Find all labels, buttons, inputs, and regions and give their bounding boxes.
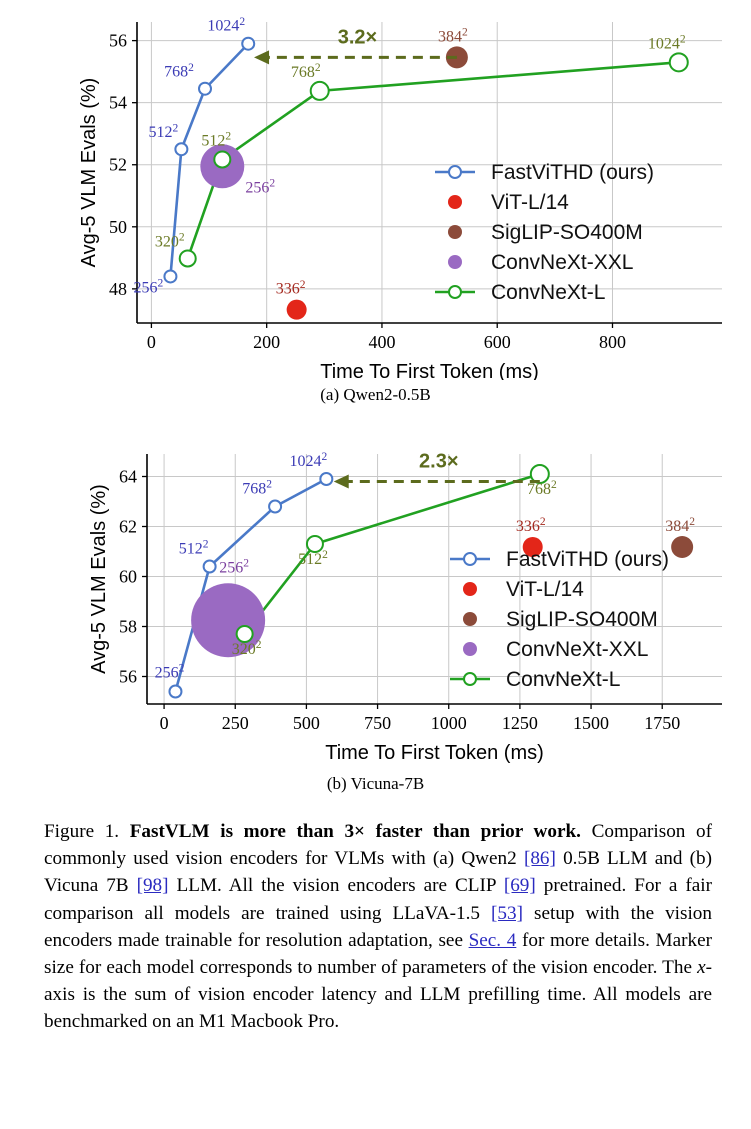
datapoint-fastvithd-ours- (242, 38, 254, 50)
point-label: 3842 (665, 516, 695, 535)
citation-86[interactable]: [86] (524, 848, 556, 869)
point-label: 3362 (276, 279, 306, 298)
point-label: 10242 (289, 451, 327, 470)
citation-98[interactable]: [98] (137, 875, 169, 896)
y-tick-label: 60 (119, 567, 137, 587)
legend-marker-dot (448, 255, 462, 269)
point-label: 10242 (207, 16, 245, 35)
x-tick-label: 200 (253, 332, 280, 352)
point-label: 5122 (298, 549, 328, 568)
legend-marker-dot (463, 612, 477, 626)
datapoint-convnext-l (311, 82, 329, 100)
section-link-4[interactable]: Sec. 4 (469, 930, 517, 951)
x-tick-label: 750 (364, 713, 391, 733)
point-label: 5122 (179, 539, 209, 558)
x-tick-label: 600 (484, 332, 511, 352)
legend-marker-dot (463, 582, 477, 596)
legend-label: ConvNeXt-XXL (506, 638, 648, 661)
chart-legend: FastViTHD (ours)ViT-L/14SigLIP-SO400MCon… (435, 161, 654, 304)
series-line-fastvithd-ours- (175, 479, 326, 692)
datapoint-fastvithd-ours- (199, 83, 211, 95)
legend-label: SigLIP-SO400M (506, 608, 658, 631)
x-tick-label: 1750 (644, 713, 680, 733)
point-label: 2562 (219, 557, 249, 576)
point-label: 7682 (242, 479, 272, 498)
x-tick-label: 0 (147, 332, 156, 352)
datapoint-fastvithd-ours- (175, 143, 187, 155)
legend-label: ViT-L/14 (491, 191, 569, 214)
legend-label: SigLIP-SO400M (491, 221, 643, 244)
x-axis-title: Time To First Token (ms) (325, 742, 544, 764)
datapoint-siglip-so400m (671, 536, 693, 558)
x-tick-label: 1250 (502, 713, 538, 733)
x-axis-title: Time To First Token (ms) (320, 361, 539, 380)
citation-69[interactable]: [69] (504, 875, 536, 896)
datapoint-fastvithd-ours- (269, 501, 281, 513)
speedup-arrow-head (254, 50, 269, 64)
math-variable-x: x (697, 957, 706, 978)
point-label: 7682 (291, 62, 321, 81)
legend-marker-circle (449, 286, 461, 298)
datapoint-fastvithd-ours- (169, 686, 181, 698)
point-label: 2562 (245, 178, 275, 197)
y-tick-label: 54 (109, 93, 127, 113)
figure-container: 0200400600800485052545625625122768210242… (0, 0, 751, 1129)
chart-panel-vicuna: 0250500750100012501500175056586062642562… (0, 412, 751, 802)
y-axis-title: Avg-5 VLM Evals (%) (78, 78, 100, 268)
y-tick-label: 50 (109, 217, 127, 237)
datapoint-fastvithd-ours- (204, 561, 216, 573)
y-tick-label: 56 (119, 667, 137, 687)
point-label: 10242 (648, 34, 686, 53)
x-tick-label: 400 (368, 332, 395, 352)
point-label: 2562 (134, 278, 164, 297)
x-tick-label: 800 (599, 332, 626, 352)
legend-label: FastViTHD (ours) (506, 548, 669, 571)
datapoint-convnext-l (670, 53, 688, 71)
plot-area-qwen2: 0200400600800485052545625625122768210242… (0, 0, 751, 380)
legend-marker-dot (448, 195, 462, 209)
plot-area-vicuna: 0250500750100012501500175056586062642562… (0, 412, 751, 782)
point-label: 7682 (164, 62, 194, 81)
y-axis-title: Avg-5 VLM Evals (%) (88, 484, 110, 674)
y-tick-label: 56 (109, 31, 127, 51)
speedup-annotation-label: 2.3× (419, 451, 458, 473)
chart-legend: FastViTHD (ours)ViT-L/14SigLIP-SO400MCon… (450, 548, 669, 691)
datapoint-convnext-l (237, 626, 253, 642)
point-label: 5122 (148, 122, 178, 141)
y-tick-label: 48 (109, 279, 127, 299)
y-tick-label: 64 (119, 467, 137, 487)
legend-label: ConvNeXt-L (506, 668, 620, 691)
legend-label: ConvNeXt-XXL (491, 251, 633, 274)
x-tick-label: 0 (160, 713, 169, 733)
datapoint-convnext-l (180, 250, 196, 266)
legend-marker-dot (448, 225, 462, 239)
x-tick-label: 1000 (431, 713, 467, 733)
figure-caption: Figure 1. FastVLM is more than 3× faster… (44, 818, 712, 1036)
x-tick-label: 250 (222, 713, 249, 733)
figure-title: FastVLM is more than 3× faster than prio… (130, 821, 581, 842)
figure-number: Figure 1. (44, 821, 119, 842)
datapoint-convnext-l (214, 151, 230, 167)
subcaption-b: (b) Vicuna-7B (0, 774, 751, 794)
point-label: 3202 (232, 639, 262, 658)
legend-label: FastViTHD (ours) (491, 161, 654, 184)
legend-marker-circle (449, 166, 461, 178)
y-tick-label: 62 (119, 517, 137, 537)
y-tick-label: 52 (109, 155, 127, 175)
caption-text-3: LLM. All the vision encoders are CLIP (169, 875, 504, 896)
subcaption-a: (a) Qwen2-0.5B (0, 385, 751, 405)
datapoint-fastvithd-ours- (320, 473, 332, 485)
point-label: 3842 (438, 27, 468, 46)
y-tick-label: 58 (119, 617, 137, 637)
chart-panel-qwen2: 0200400600800485052545625625122768210242… (0, 0, 751, 412)
point-label: 3362 (516, 516, 546, 535)
point-label: 3202 (155, 232, 185, 251)
legend-marker-circle (464, 553, 476, 565)
legend-label: ViT-L/14 (506, 578, 584, 601)
legend-marker-circle (464, 673, 476, 685)
citation-53[interactable]: [53] (491, 903, 523, 924)
datapoint-vit-l-14 (287, 300, 307, 320)
datapoint-fastvithd-ours- (164, 270, 176, 282)
x-tick-label: 1500 (573, 713, 609, 733)
grid-lines (147, 454, 722, 704)
datapoint-convnext-l (307, 536, 323, 552)
legend-label: ConvNeXt-L (491, 281, 605, 304)
speedup-annotation-label: 3.2× (338, 26, 377, 48)
x-tick-label: 500 (293, 713, 320, 733)
legend-marker-dot (463, 642, 477, 656)
